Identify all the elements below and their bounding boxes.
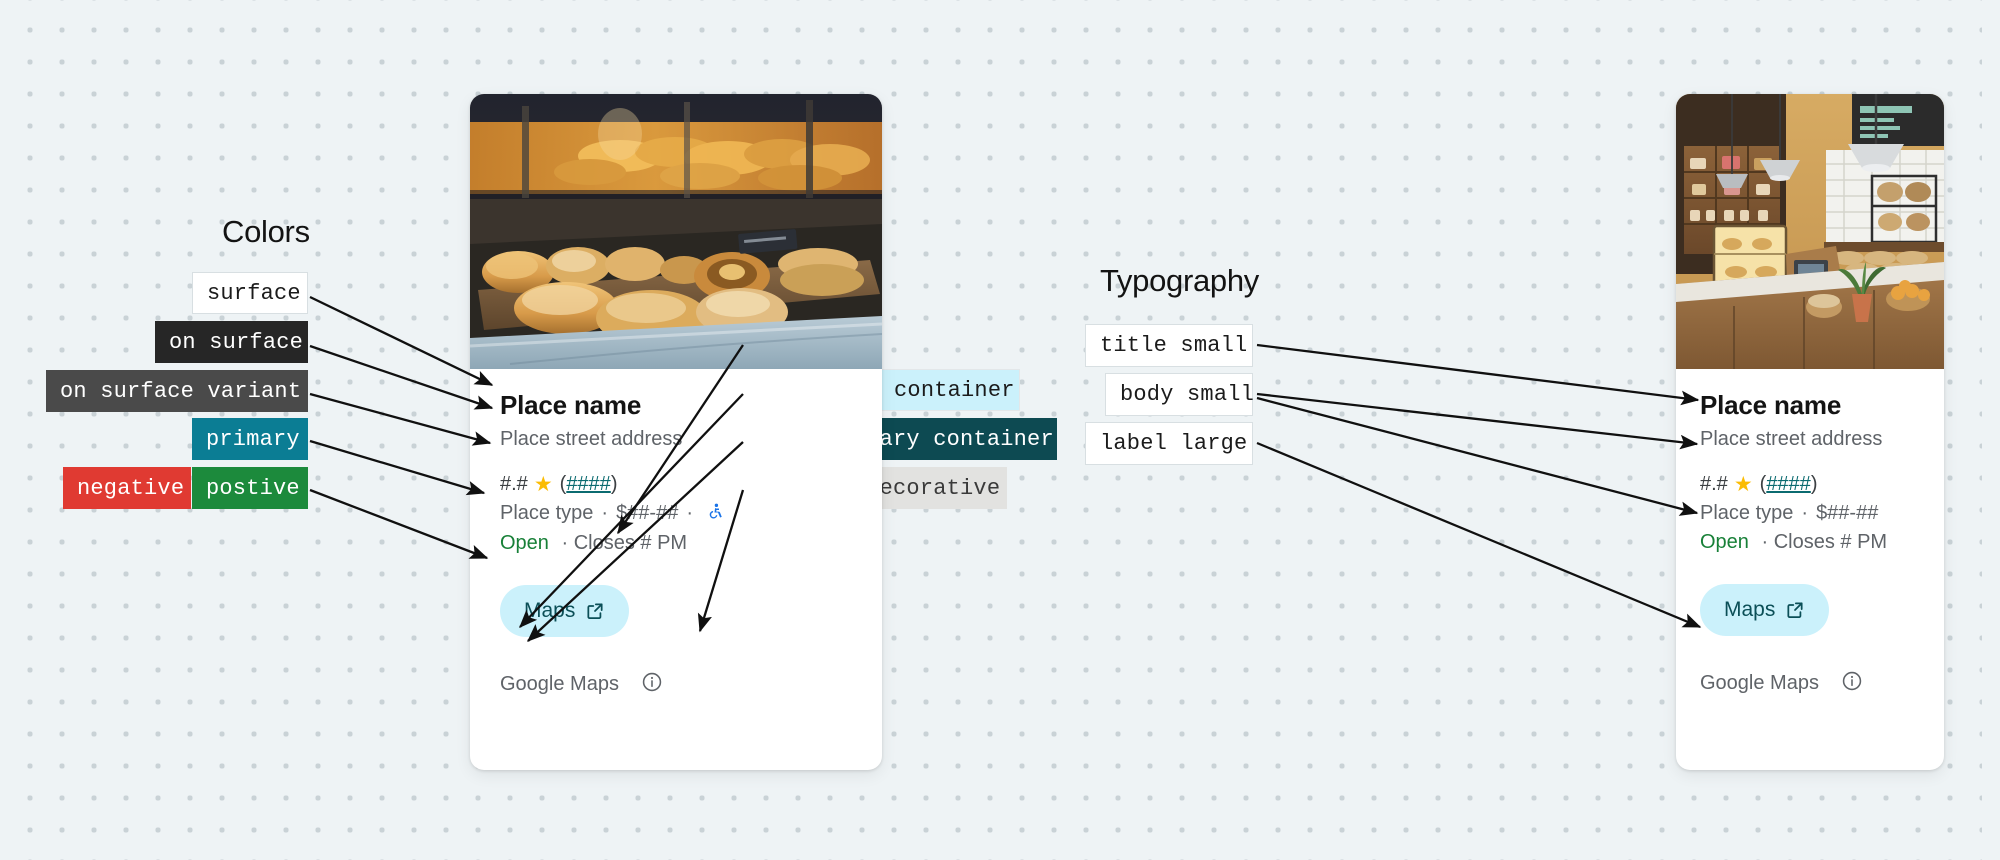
place-photo-bakery [470, 94, 882, 369]
open-status-right: Open [1700, 531, 1749, 553]
maps-button-label: Maps [524, 599, 575, 623]
paren-close-right: ) [1811, 473, 1818, 496]
open-status: Open [500, 532, 549, 554]
type-chip-label-large[interactable]: label large [1085, 422, 1253, 465]
meta-separator-2: · [686, 502, 693, 525]
closing-hours-right: · Closes # PM [1762, 531, 1888, 553]
cafe-photo-illustration [1676, 94, 1944, 369]
star-icon: ★ [534, 474, 553, 495]
place-card-right[interactable]: Place name Place street address #.# ★ ( … [1676, 94, 1944, 770]
place-photo-cafe [1676, 94, 1944, 369]
canvas-right-margin [1982, 0, 2000, 860]
external-link-icon-right [1785, 600, 1805, 620]
place-meta-row: Place type · $##-## · [500, 502, 852, 526]
place-hours-row-right: Open · Closes # PM [1700, 531, 1920, 554]
paren-open-right: ( [1760, 473, 1767, 496]
section-title-colors-left: Colors [222, 214, 310, 250]
price-range-right: $##-## [1816, 502, 1878, 525]
place-card-body: Place name Place street address #.# ★ ( … [470, 369, 882, 637]
rating-count-link[interactable]: #### [566, 473, 611, 496]
canvas-left-margin [0, 0, 18, 860]
place-address: Place street address [500, 428, 852, 451]
place-name: Place name [500, 391, 852, 421]
color-chip-positive[interactable]: postive [192, 467, 308, 509]
wheelchair-icon [706, 502, 726, 526]
info-circle-icon-right[interactable] [1841, 670, 1863, 697]
external-link-icon [585, 601, 605, 621]
place-name-right: Place name [1700, 391, 1920, 421]
place-hours-row: Open · Closes # PM [500, 532, 852, 555]
google-maps-attribution: Google Maps [500, 673, 619, 696]
place-card-footer: Google Maps [470, 671, 882, 698]
maps-button[interactable]: Maps [500, 585, 629, 637]
type-chip-body-small[interactable]: body small [1105, 373, 1253, 416]
maps-button-label-right: Maps [1724, 598, 1775, 622]
color-chip-negative[interactable]: negative [63, 467, 191, 509]
google-maps-attribution-right: Google Maps [1700, 672, 1819, 695]
color-chip-on-surface[interactable]: on surface [155, 321, 308, 363]
paren-open: ( [560, 473, 567, 496]
rating-count-link-right[interactable]: #### [1766, 473, 1811, 496]
star-icon-right: ★ [1734, 474, 1753, 495]
place-rating-row: #.# ★ ( #### ) [500, 473, 852, 496]
place-card-body-right: Place name Place street address #.# ★ ( … [1676, 369, 1944, 636]
place-type-right: Place type [1700, 502, 1793, 525]
rating-value: #.# [500, 473, 528, 496]
rating-value-right: #.# [1700, 473, 1728, 496]
color-chip-primary[interactable]: primary [192, 418, 308, 460]
bakery-photo-illustration [470, 94, 882, 369]
closing-hours: · Closes # PM [562, 532, 688, 554]
place-card-footer-right: Google Maps [1676, 670, 1944, 697]
paren-close: ) [611, 473, 618, 496]
place-card-left[interactable]: Place name Place street address #.# ★ ( … [470, 94, 882, 770]
meta-separator-1: · [601, 502, 608, 525]
place-meta-row-right: Place type · $##-## [1700, 502, 1920, 525]
color-chip-surface[interactable]: surface [192, 272, 308, 314]
info-circle-icon[interactable] [641, 671, 663, 698]
section-title-typography: Typography [1100, 263, 1259, 299]
meta-separator-right: · [1801, 502, 1808, 525]
type-chip-title-small[interactable]: title small [1085, 324, 1253, 367]
place-address-right: Place street address [1700, 428, 1920, 451]
place-type: Place type [500, 502, 593, 525]
maps-button-right[interactable]: Maps [1700, 584, 1829, 636]
color-chip-on-surface-variant[interactable]: on surface variant [46, 370, 308, 412]
place-rating-row-right: #.# ★ ( #### ) [1700, 473, 1920, 496]
price-range: $##-## [616, 502, 678, 525]
